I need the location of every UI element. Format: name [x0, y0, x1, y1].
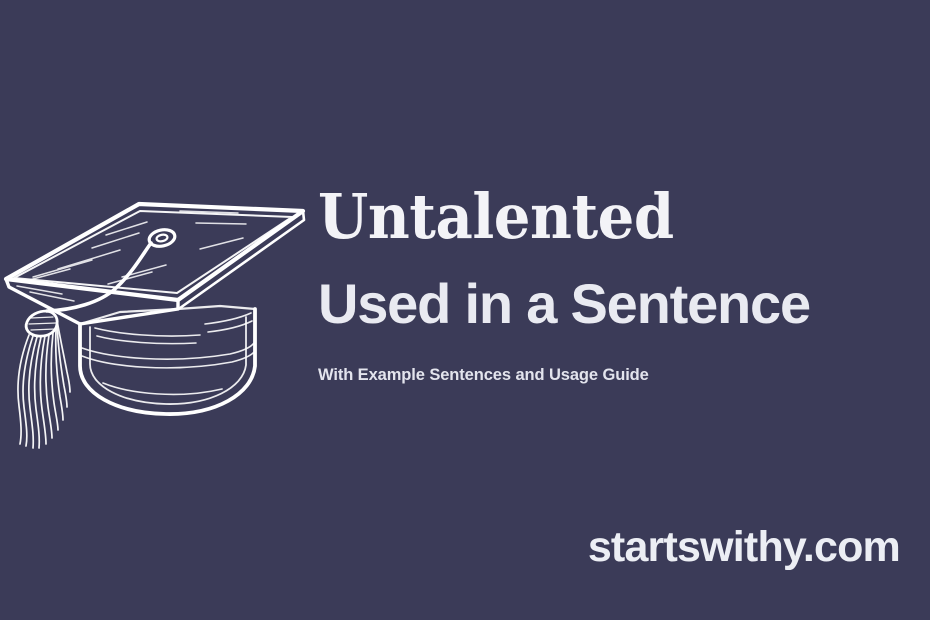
- cap-button-outer: [148, 227, 177, 248]
- word-title: Untalented: [318, 186, 876, 248]
- word-banner: Untalented Used in a Sentence With Examp…: [0, 0, 930, 620]
- tassel-strands: [18, 320, 70, 448]
- mortarboard-inner-edge: [14, 211, 292, 293]
- cap-button-inner: [156, 234, 168, 243]
- tassel-knot: [26, 311, 57, 336]
- cap-fold-right: [178, 306, 255, 309]
- mortarboard-thickness: [6, 279, 178, 324]
- mortarboard-thickness-right: [180, 211, 304, 308]
- tassel-knot-hatching: [29, 317, 56, 330]
- graduation-cap-icon: [0, 178, 310, 450]
- cap-fold-left: [80, 309, 178, 324]
- cap-crown-outline: [80, 309, 255, 414]
- mortarboard-hatching: [17, 211, 246, 301]
- headline: Used in a Sentence: [318, 248, 918, 332]
- cap-crown-inner: [90, 317, 246, 404]
- banner-text-block: Untalented Used in a Sentence With Examp…: [318, 186, 918, 386]
- brand-domain: startswithy.com: [588, 523, 900, 572]
- tassel-cord: [47, 243, 151, 311]
- cap-crown-bands: [82, 313, 255, 394]
- mortarboard-outline: [6, 204, 303, 300]
- subtitle: With Example Sentences and Usage Guide: [318, 332, 918, 386]
